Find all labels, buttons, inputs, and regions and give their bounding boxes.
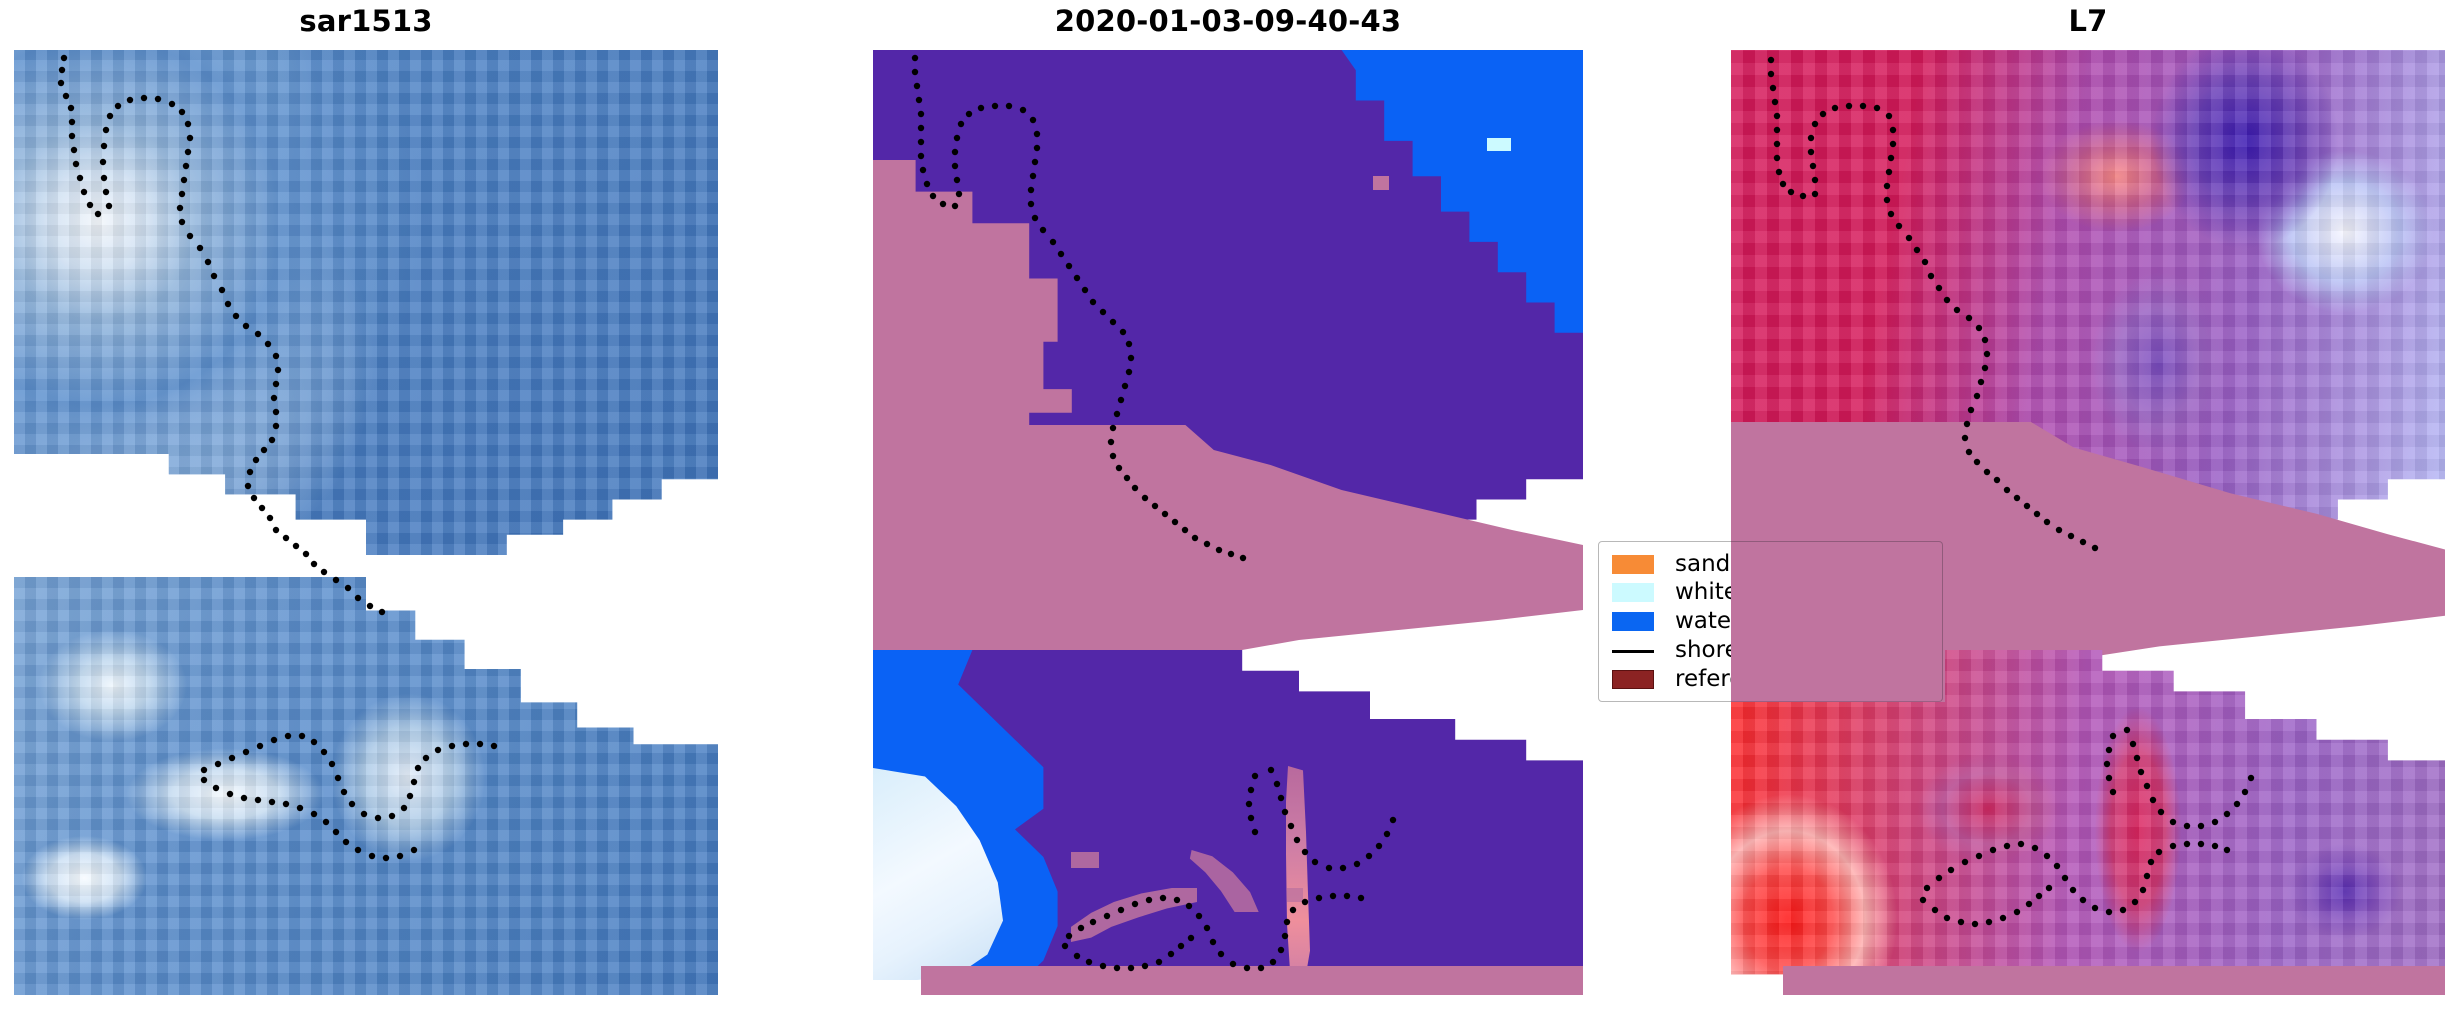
shoreline-line-icon — [1612, 650, 1654, 653]
legend-item-shoreline: shoreline — [1612, 637, 1930, 663]
reference-swatch-icon — [1612, 670, 1654, 689]
classification-raster — [873, 50, 1583, 995]
panel-title-sar: sar1513 — [14, 4, 718, 38]
shoreline-dots-sar — [14, 50, 718, 995]
panel-title-l7: L7 — [1731, 4, 2445, 38]
sar-raster — [14, 50, 718, 995]
panel-sar[interactable] — [14, 50, 718, 995]
legend-label-water: water — [1675, 610, 1741, 633]
legend-item-reference: reference — [1612, 666, 1930, 692]
panel-classification[interactable] — [873, 50, 1583, 995]
shoreline-dots-l7 — [1731, 50, 2445, 995]
legend-item-whitewater: whitewater — [1612, 580, 1930, 606]
panel-title-classification: 2020-01-03-09-40-43 — [873, 4, 1583, 38]
legend-label-shoreline: shoreline — [1675, 639, 1780, 662]
water-swatch-icon — [1612, 612, 1654, 631]
class-legend[interactable]: sand whitewater water shoreline referenc… — [1598, 541, 1943, 702]
legend-label-sand: sand — [1675, 553, 1730, 576]
legend-item-water: water — [1612, 609, 1930, 635]
legend-label-reference: reference — [1675, 668, 1785, 691]
sand-swatch-icon — [1612, 555, 1654, 574]
figure-canvas: sar1513 2020-01-03-09-40-43 L7 — [0, 0, 2460, 1026]
legend-label-whitewater: whitewater — [1675, 581, 1803, 604]
l7-raster — [1731, 50, 2445, 995]
shoreline-dots-classification — [873, 50, 1583, 995]
whitewater-swatch-icon — [1612, 583, 1654, 602]
legend-item-sand: sand — [1612, 551, 1930, 577]
panel-l7[interactable] — [1731, 50, 2445, 995]
